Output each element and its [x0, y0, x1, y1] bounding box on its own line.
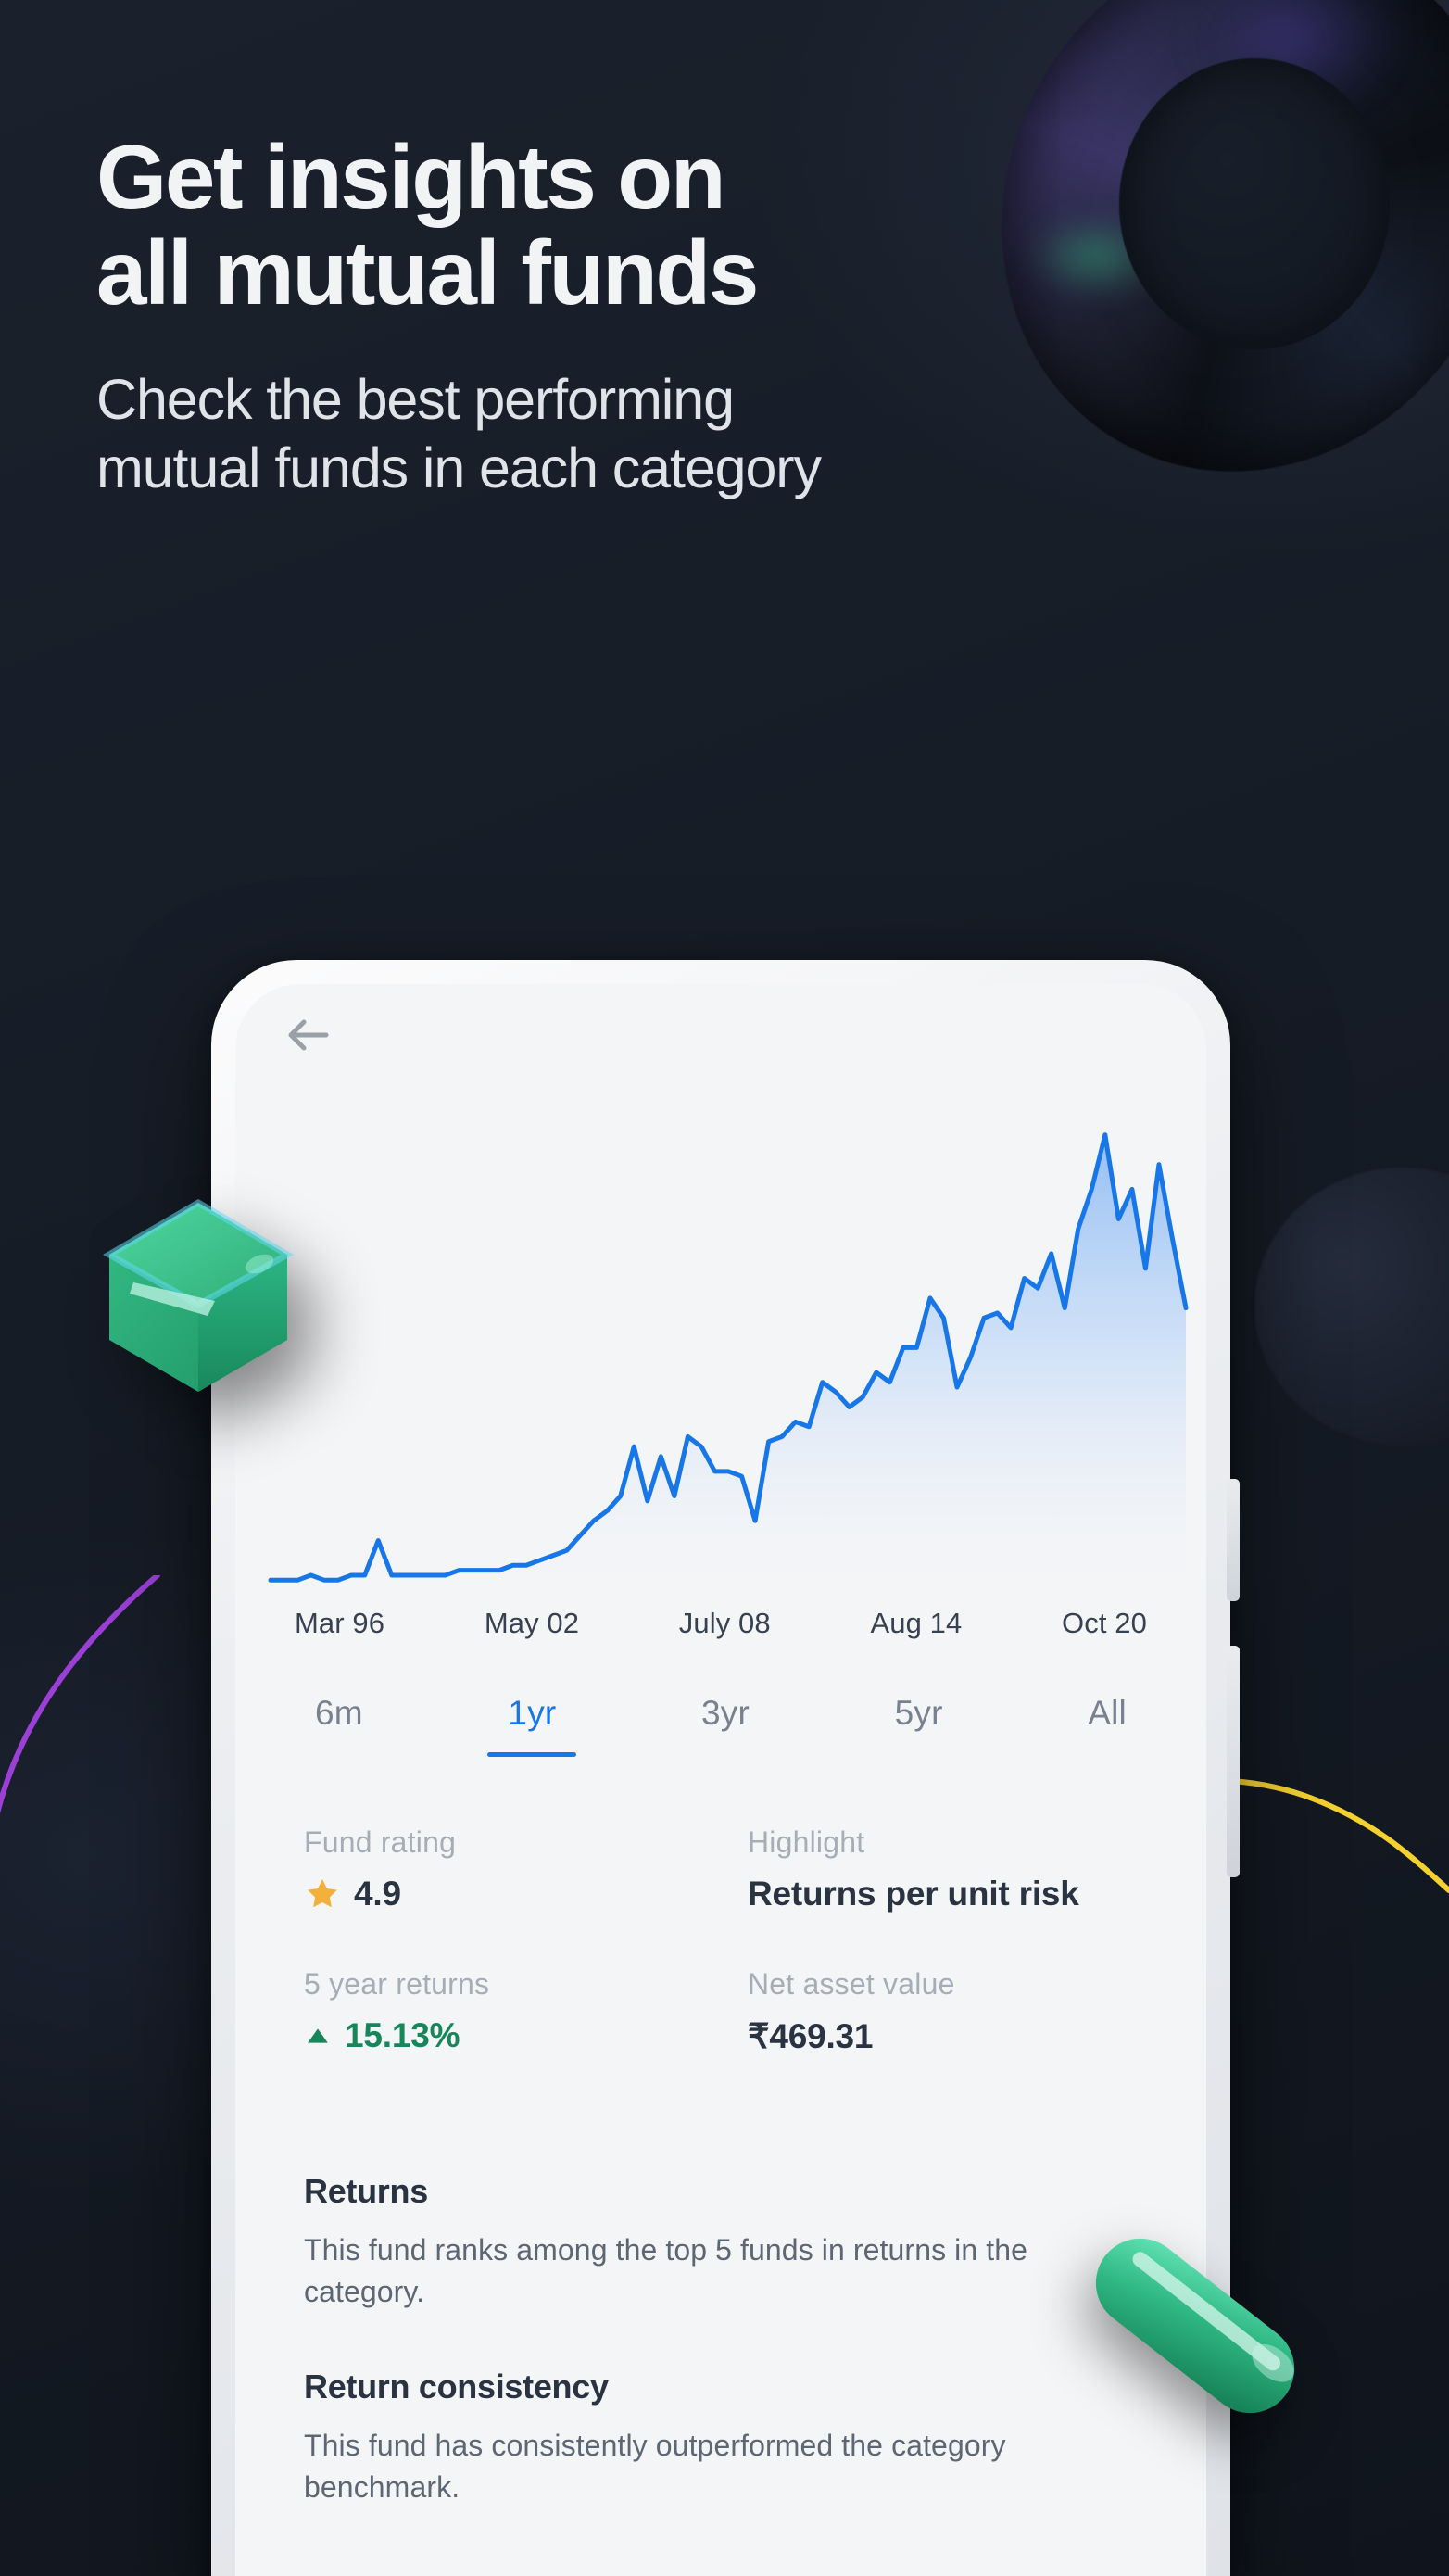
hero-subtitle-line-1: Check the best performing	[96, 365, 1190, 434]
stat-five-year-returns: 5 year returns 15.13%	[304, 1967, 727, 2056]
stat-value: 4.9	[354, 1875, 401, 1913]
fund-stats: Fund rating 4.9 Highlight Retu	[304, 1825, 1151, 2110]
stat-value-wrap: Returns per unit risk	[748, 1875, 1151, 1913]
chart-series-area	[271, 1135, 1186, 1607]
green-capsule-decoration	[1061, 2215, 1329, 2437]
hero-title: Get insights on all mutual funds	[96, 130, 1190, 321]
stat-row: Fund rating 4.9 Highlight Retu	[304, 1825, 1151, 1913]
stat-label: Fund rating	[304, 1825, 727, 1860]
stat-highlight: Highlight Returns per unit risk	[727, 1825, 1151, 1913]
stat-fund-rating: Fund rating 4.9	[304, 1825, 727, 1913]
stat-value: Returns per unit risk	[748, 1875, 1079, 1913]
nav-performance-chart[interactable]	[235, 1088, 1206, 1607]
hero-title-line-1: Get insights on	[96, 130, 1190, 225]
phone-power-button[interactable]	[1227, 1646, 1240, 1877]
stat-label: Highlight	[748, 1825, 1151, 1860]
section-title: Return consistency	[304, 2368, 1153, 2406]
stat-value-wrap: ₹469.31	[748, 2016, 1151, 2056]
tab-all[interactable]: All	[1064, 1681, 1151, 1757]
arrow-left-icon	[283, 1017, 332, 1054]
stat-value-wrap: 4.9	[304, 1875, 727, 1913]
section-title: Returns	[304, 2172, 1153, 2211]
chart-x-axis: Mar 96 May 02 July 08 Aug 14 Oct 20	[269, 1607, 1173, 1640]
stat-value: ₹469.31	[748, 2016, 873, 2056]
hero-subtitle: Check the best performing mutual funds i…	[96, 365, 1190, 503]
stat-net-asset-value: Net asset value ₹469.31	[727, 1967, 1151, 2056]
right-blob-decoration	[1254, 1168, 1449, 1446]
hero-subtitle-line-2: mutual funds in each category	[96, 434, 1190, 502]
stat-value-wrap: 15.13%	[304, 2016, 727, 2055]
back-button[interactable]	[280, 1007, 335, 1063]
stat-row: 5 year returns 15.13% Net asset value	[304, 1967, 1151, 2056]
hero-stage: Get insights on all mutual funds Check t…	[0, 0, 1449, 2576]
triangle-up-icon	[304, 2024, 332, 2048]
stat-label: 5 year returns	[304, 1967, 727, 2001]
section-body: This fund has consistently outperformed …	[304, 2425, 1153, 2509]
app-topbar	[235, 984, 1206, 1086]
x-tick: Aug 14	[870, 1607, 962, 1640]
stat-value: 15.13%	[345, 2016, 460, 2055]
green-cube-decoration	[78, 1177, 319, 1418]
hero-title-line-2: all mutual funds	[96, 225, 1190, 321]
x-tick: July 08	[679, 1607, 771, 1640]
stat-label: Net asset value	[748, 1967, 1151, 2001]
section-returns: Returns This fund ranks among the top 5 …	[304, 2172, 1153, 2314]
section-body: This fund ranks among the top 5 funds in…	[304, 2229, 1153, 2314]
tab-1yr[interactable]: 1yr	[484, 1681, 580, 1757]
hero-copy: Get insights on all mutual funds Check t…	[96, 130, 1190, 503]
chart-svg	[235, 1088, 1206, 1607]
fund-insight-sections: Returns This fund ranks among the top 5 …	[304, 2172, 1153, 2563]
section-return-consistency: Return consistency This fund has consist…	[304, 2368, 1153, 2509]
tab-5yr[interactable]: 5yr	[871, 1681, 967, 1757]
tab-6m[interactable]: 6m	[291, 1681, 387, 1757]
x-tick: Oct 20	[1062, 1607, 1147, 1640]
tab-3yr[interactable]: 3yr	[677, 1681, 774, 1757]
time-range-tabs: 6m 1yr 3yr 5yr All	[269, 1681, 1173, 1757]
x-tick: Mar 96	[295, 1607, 384, 1640]
phone-volume-button[interactable]	[1227, 1479, 1240, 1601]
x-tick: May 02	[485, 1607, 579, 1640]
star-icon	[304, 1875, 341, 1913]
